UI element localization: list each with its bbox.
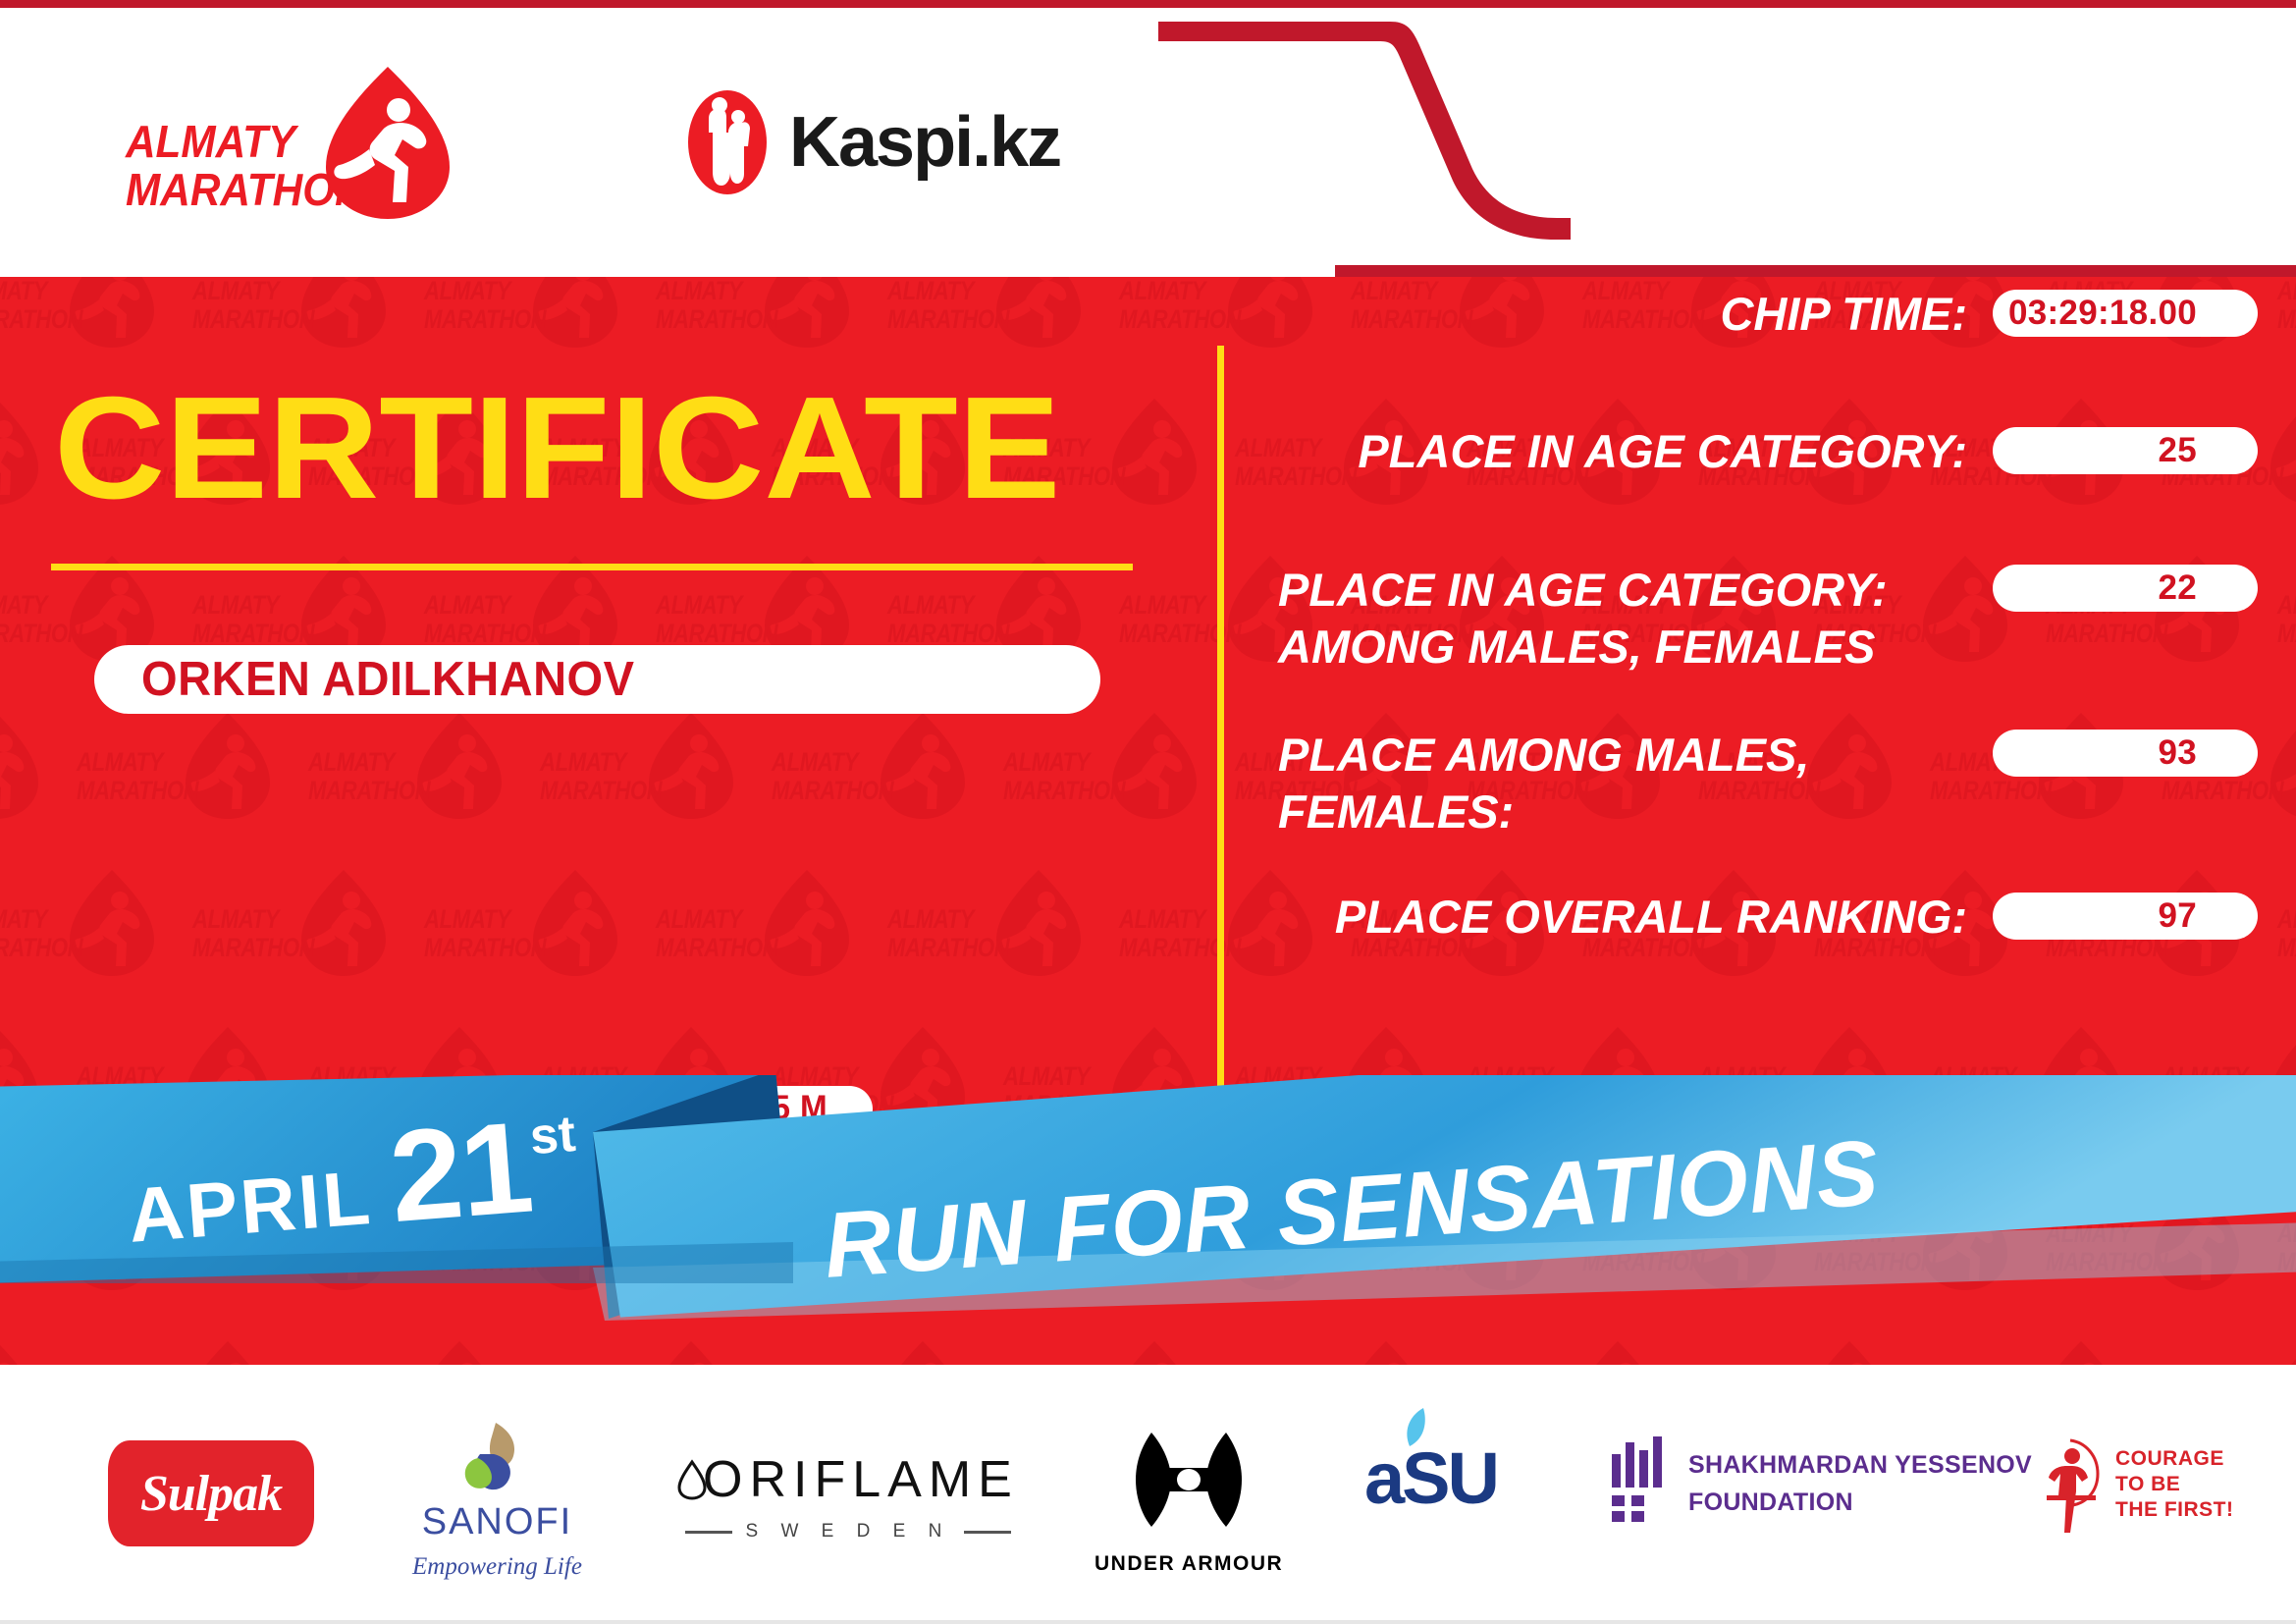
event-day-ordinal: st: [528, 1105, 578, 1166]
sulpak-logo: Sulpak: [108, 1440, 314, 1546]
page-title: CERTIFICATE: [54, 375, 1060, 522]
sponsor-bar: Sulpak SANOFI Empowering Life ORIFLAME: [0, 1419, 2296, 1596]
stat-row: PLACE AMONG MALES, FEMALES: 93: [1266, 727, 2258, 840]
title-underline: [51, 564, 1133, 570]
stat-value: 97: [2158, 896, 2197, 936]
stat-label: PLACE OVERALL RANKING:: [1266, 890, 1993, 945]
yessenov-name-line-1: SHAKHMARDAN YESSENOV: [1688, 1446, 2032, 1484]
stat-row: PLACE IN AGE CATEGORY: AMONG MALES, FEMA…: [1266, 562, 2258, 676]
stat-label: CHIP TIME:: [1266, 287, 1993, 342]
sanofi-mark-icon: [445, 1421, 549, 1501]
event-month: APRIL: [126, 1153, 376, 1261]
under-armour-text: UNDER ARMOUR: [1095, 1552, 1283, 1576]
sponsor-yessenov-foundation: SHAKHMARDAN YESSENOV FOUNDATION: [1610, 1436, 2032, 1531]
corporate-fund-line-1: COURAGE: [2115, 1446, 2234, 1472]
stat-row: CHIP TIME: 03:29:18.00: [1266, 287, 2258, 342]
stat-label: PLACE AMONG MALES, FEMALES:: [1266, 727, 1993, 840]
sponsor-under-armour: UNDER ARMOUR: [1095, 1429, 1283, 1576]
oriflame-sub-text: S W E D E N: [746, 1521, 951, 1543]
stat-value: 93: [2158, 733, 2197, 773]
stat-value-pill: 03:29:18.00: [1993, 290, 2258, 337]
stat-label: PLACE IN AGE CATEGORY:: [1266, 424, 1993, 479]
sponsor-asu: aSU: [1364, 1436, 1497, 1520]
sponsor-sanofi: SANOFI Empowering Life: [412, 1421, 582, 1581]
stat-value: 03:29:18.00: [2008, 294, 2197, 333]
stat-value-pill: 22: [1993, 565, 2258, 612]
sanofi-tagline: Empowering Life: [412, 1553, 582, 1581]
left-column: CERTIFICATE ORKEN ADILKHANOV DISTANCE: 4…: [0, 277, 1207, 1062]
stat-row: PLACE IN AGE CATEGORY: 25: [1266, 424, 2258, 479]
kaspi-mark-icon: [687, 89, 768, 195]
sulpak-logo-text: Sulpak: [140, 1465, 282, 1523]
stat-value: 25: [2158, 431, 2197, 470]
corporate-fund-figure-icon: [2037, 1431, 2108, 1539]
almaty-marathon-logo: ALMATY MARATHON: [126, 65, 450, 217]
athlete-name-value: ORKEN ADILKHANOV: [141, 652, 634, 707]
yessenov-name-line-2: FOUNDATION: [1688, 1484, 2032, 1521]
stats-column: CHIP TIME: 03:29:18.00 PLACE IN AGE CATE…: [1266, 277, 2296, 1062]
sanofi-logo-text: SANOFI: [422, 1501, 572, 1543]
top-accent-strip: [0, 0, 2296, 8]
yessenov-mark-icon: [1610, 1436, 1671, 1531]
runner-drop-icon: [322, 65, 454, 222]
header-curve-shape: [1158, 8, 1571, 295]
under-armour-icon: [1120, 1429, 1257, 1546]
column-divider: [1217, 346, 1224, 1100]
corporate-fund-line-2: TO BE: [2115, 1472, 2234, 1497]
stat-row: PLACE OVERALL RANKING: 97: [1266, 890, 2258, 945]
stat-label: PLACE IN AGE CATEGORY: AMONG MALES, FEMA…: [1266, 562, 1993, 676]
athlete-name-field: ORKEN ADILKHANOV: [94, 645, 1100, 714]
oriflame-logo-text: ORIFLAME: [703, 1450, 1019, 1509]
stat-value: 22: [2158, 568, 2197, 608]
kaspi-logo: Kaspi.kz: [687, 88, 1060, 196]
certificate-root: ALMATYMARATHONALMATYMARATHONALMATYMARATH…: [0, 0, 2296, 1624]
bottom-divider: [0, 1620, 2296, 1624]
stat-value-pill: 93: [1993, 730, 2258, 777]
corporate-fund-line-3: THE FIRST!: [2115, 1497, 2234, 1523]
sponsor-sulpak: Sulpak: [108, 1440, 314, 1546]
stat-value-pill: 25: [1993, 427, 2258, 474]
sponsor-oriflame: ORIFLAME S W E D E N: [677, 1450, 1019, 1543]
kaspi-logo-text: Kaspi.kz: [789, 102, 1060, 183]
stat-value-pill: 97: [1993, 893, 2258, 940]
event-day: 21: [387, 1113, 535, 1232]
sponsor-corporate-fund: CORPORATE FUND COURAGE TO BE THE FIRST!: [2037, 1431, 2234, 1539]
asu-logo-text: aSU: [1364, 1436, 1497, 1520]
asu-leaf-icon: [1402, 1407, 1433, 1448]
